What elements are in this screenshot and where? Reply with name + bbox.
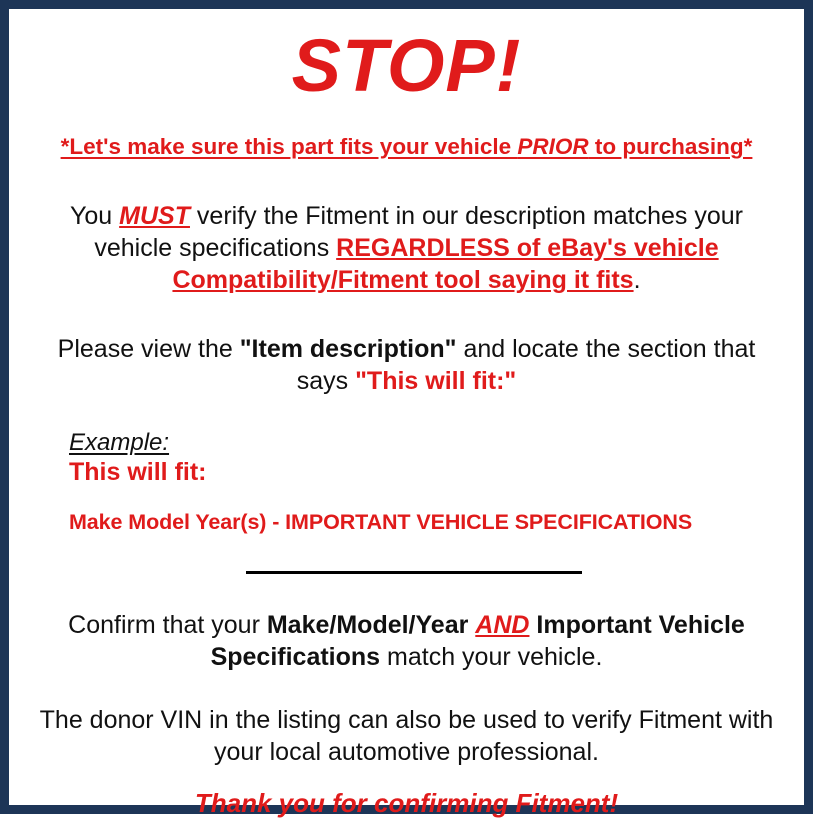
horizontal-divider bbox=[246, 571, 582, 574]
confirm-part1: Confirm that your bbox=[68, 611, 267, 639]
verify-subtitle: *Let's make sure this part fits your veh… bbox=[21, 133, 792, 160]
must-paragraph-part1: You bbox=[70, 202, 119, 230]
and-keyword: AND bbox=[475, 611, 529, 639]
thank-you-line: Thank you for confirming Fitment! bbox=[21, 788, 792, 819]
divider-wrap bbox=[21, 561, 792, 579]
confirm-part2: match your vehicle. bbox=[380, 643, 602, 671]
item-description-paragraph: Please view the "Item description" and l… bbox=[21, 333, 792, 397]
verify-subtitle-emphasis: PRIOR bbox=[517, 134, 588, 159]
example-block: Example: This will fit: Make Model Year(… bbox=[21, 430, 792, 535]
example-label-row: Example: bbox=[69, 430, 792, 456]
fitment-notice-card: STOP! *Let's make sure this part fits yo… bbox=[0, 0, 813, 814]
donor-vin-paragraph: The donor VIN in the listing can also be… bbox=[21, 704, 792, 768]
must-keyword: MUST bbox=[119, 202, 190, 230]
example-label: Example: bbox=[69, 430, 169, 456]
verify-subtitle-underline: *Let's make sure this part fits your veh… bbox=[61, 134, 753, 159]
item-desc-part1: Please view the bbox=[58, 335, 240, 363]
example-fit-line: This will fit: bbox=[69, 458, 792, 487]
confirm-bold-make-model-year: Make/Model/Year bbox=[267, 611, 468, 639]
verify-subtitle-suffix: to purchasing* bbox=[589, 134, 753, 159]
must-verify-paragraph: You MUST verify the Fitment in our descr… bbox=[21, 200, 792, 296]
confirm-paragraph: Confirm that your Make/Model/Year AND Im… bbox=[21, 609, 792, 673]
stop-headline: STOP! bbox=[21, 21, 792, 103]
this-will-fit-quote: "This will fit:" bbox=[355, 367, 516, 395]
item-description-quote: "Item description" bbox=[240, 335, 457, 363]
verify-subtitle-prefix: *Let's make sure this part fits your veh… bbox=[61, 134, 518, 159]
example-spec-line: Make Model Year(s) - IMPORTANT VEHICLE S… bbox=[69, 510, 792, 535]
must-paragraph-part3: . bbox=[634, 266, 641, 294]
